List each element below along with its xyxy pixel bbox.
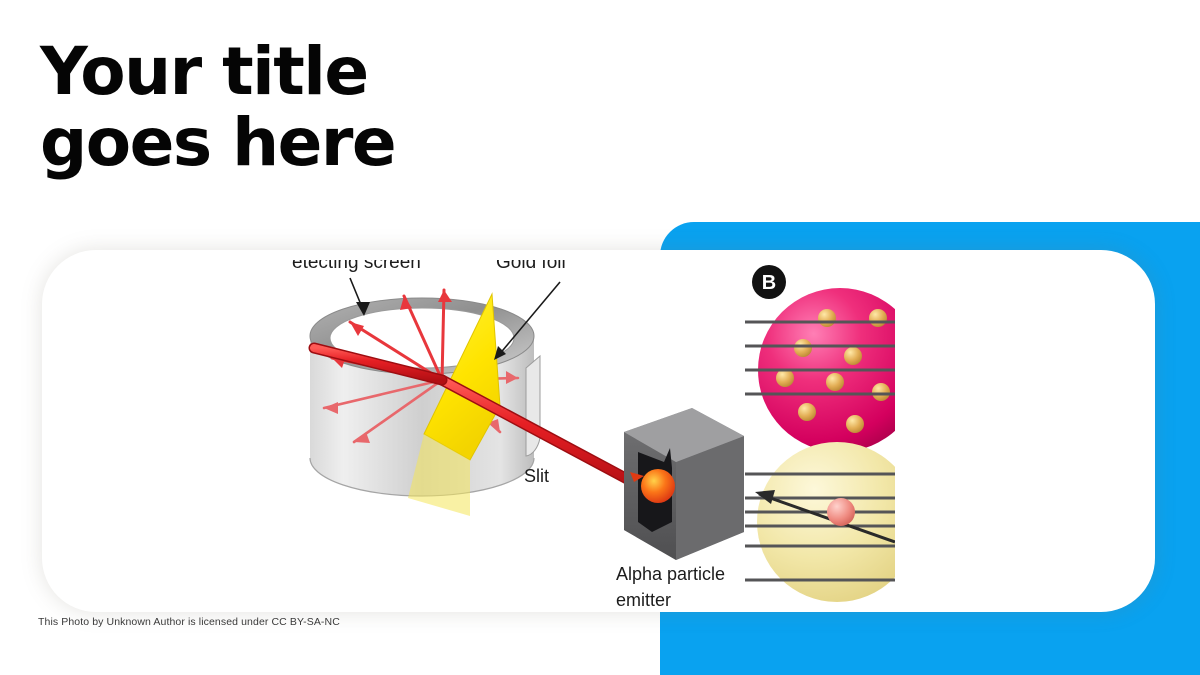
alpha-particle-emitter-box [624, 408, 744, 560]
panel-nuclear-yellow-model [745, 442, 895, 602]
nuclear-model-figure: B [745, 260, 895, 612]
label-emitter-line1: Alpha particle [616, 564, 725, 584]
label-slit-text: Slit [524, 466, 549, 486]
nucleus-dot [827, 498, 855, 526]
slide-canvas: Your title goes here [0, 0, 1200, 675]
panel-b-badge: B [752, 265, 786, 299]
label-gold-foil-text: Gold foil [496, 260, 566, 273]
title-line-2: goes here [40, 107, 660, 178]
label-emitter: Alpha particle emitter [616, 564, 730, 610]
content-card: etecting screen Gold foil Slit Alpha par… [42, 250, 1155, 612]
label-detecting-screen-text: etecting screen [292, 260, 421, 273]
panel-b-pink-model: B [745, 265, 895, 452]
label-detecting-screen: etecting screen [292, 260, 421, 273]
label-gold-foil: Gold foil [496, 260, 566, 273]
photo-attribution[interactable]: This Photo by Unknown Author is licensed… [38, 616, 340, 628]
title-line-1: Your title [40, 36, 660, 107]
label-emitter-line2: emitter [616, 590, 671, 610]
label-slit: Slit [524, 466, 549, 486]
rutherford-experiment-figure: etecting screen Gold foil Slit Alpha par… [292, 260, 752, 612]
panel-b-badge-label: B [762, 272, 776, 294]
picture-area: etecting screen Gold foil Slit Alpha par… [42, 250, 1155, 612]
page-title: Your title goes here [40, 36, 660, 179]
